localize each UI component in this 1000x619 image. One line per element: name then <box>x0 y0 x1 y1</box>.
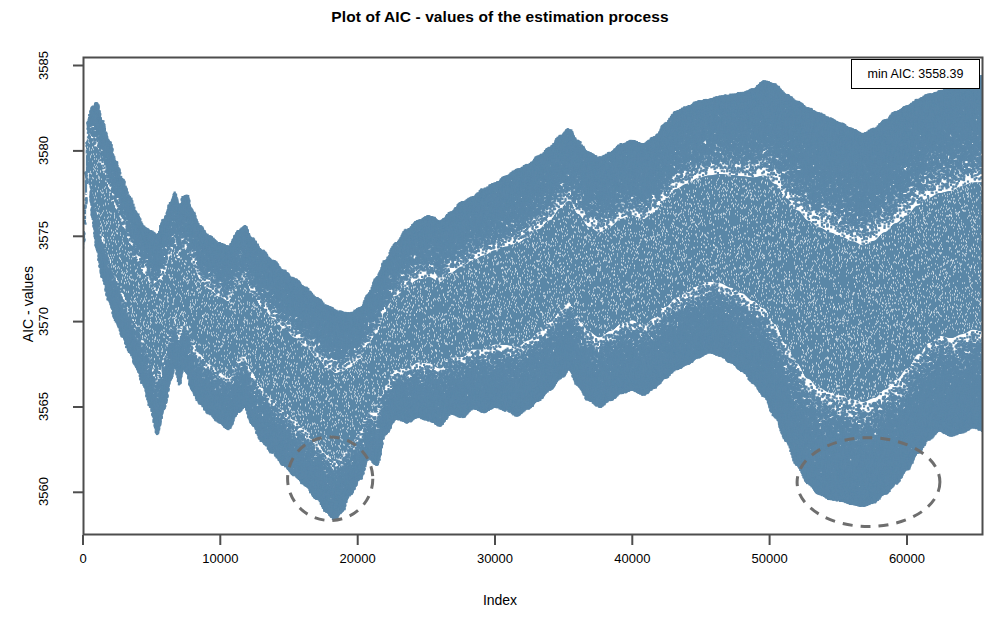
y-tick-label: 3565 <box>36 376 51 436</box>
y-tick-label: 3575 <box>36 206 51 266</box>
x-axis-label: Index <box>0 592 1000 608</box>
legend-box: min AIC: 3558.39 <box>851 59 980 89</box>
x-tick-label: 10000 <box>180 551 260 566</box>
y-tick-label: 3570 <box>36 291 51 351</box>
scatter-plot-canvas <box>0 0 1000 619</box>
page-title: Plot of AIC - values of the estimation p… <box>0 8 1000 26</box>
y-tick-label: 3560 <box>36 462 51 522</box>
y-axis-label: AIC - values <box>20 224 36 384</box>
x-tick-label: 30000 <box>455 551 535 566</box>
x-tick-label: 40000 <box>592 551 672 566</box>
y-tick-label: 3580 <box>36 120 51 180</box>
x-tick-label: 20000 <box>318 551 398 566</box>
chart-figure: Plot of AIC - values of the estimation p… <box>0 0 1000 619</box>
x-tick-label: 60000 <box>867 551 947 566</box>
data-point-cloud <box>82 75 985 521</box>
y-tick-label: 3585 <box>36 35 51 95</box>
x-tick-label: 50000 <box>730 551 810 566</box>
legend-min-aic-label: min AIC: 3558.39 <box>868 67 964 81</box>
x-tick-label: 0 <box>43 551 123 566</box>
